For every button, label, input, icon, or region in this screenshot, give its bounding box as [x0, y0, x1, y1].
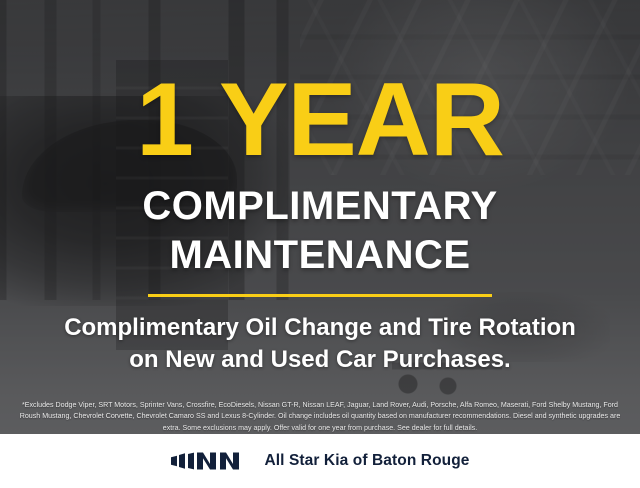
dealer-footer: All Star Kia of Baton Rouge	[0, 434, 640, 488]
headline-primary: 1 YEAR	[136, 68, 504, 172]
yellow-divider-rule	[148, 294, 492, 297]
disclaimer-fine-print: *Excludes Dodge Viper, SRT Motors, Sprin…	[14, 400, 626, 434]
dealer-name-label: All Star Kia of Baton Rouge	[264, 452, 469, 470]
headline-secondary-line1: COMPLIMENTARY	[142, 186, 497, 226]
offer-description-line2: on New and Used Car Purchases.	[129, 347, 510, 373]
promo-banner: 1 YEAR COMPLIMENTARY MAINTENANCE Complim…	[0, 0, 640, 488]
hero-content: 1 YEAR COMPLIMENTARY MAINTENANCE Complim…	[0, 0, 640, 434]
hero-photo-section: 1 YEAR COMPLIMENTARY MAINTENANCE Complim…	[0, 0, 640, 434]
kia-logo-icon	[170, 451, 242, 471]
headline-secondary-line2: MAINTENANCE	[169, 235, 470, 275]
offer-description-line1: Complimentary Oil Change and Tire Rotati…	[64, 315, 576, 341]
